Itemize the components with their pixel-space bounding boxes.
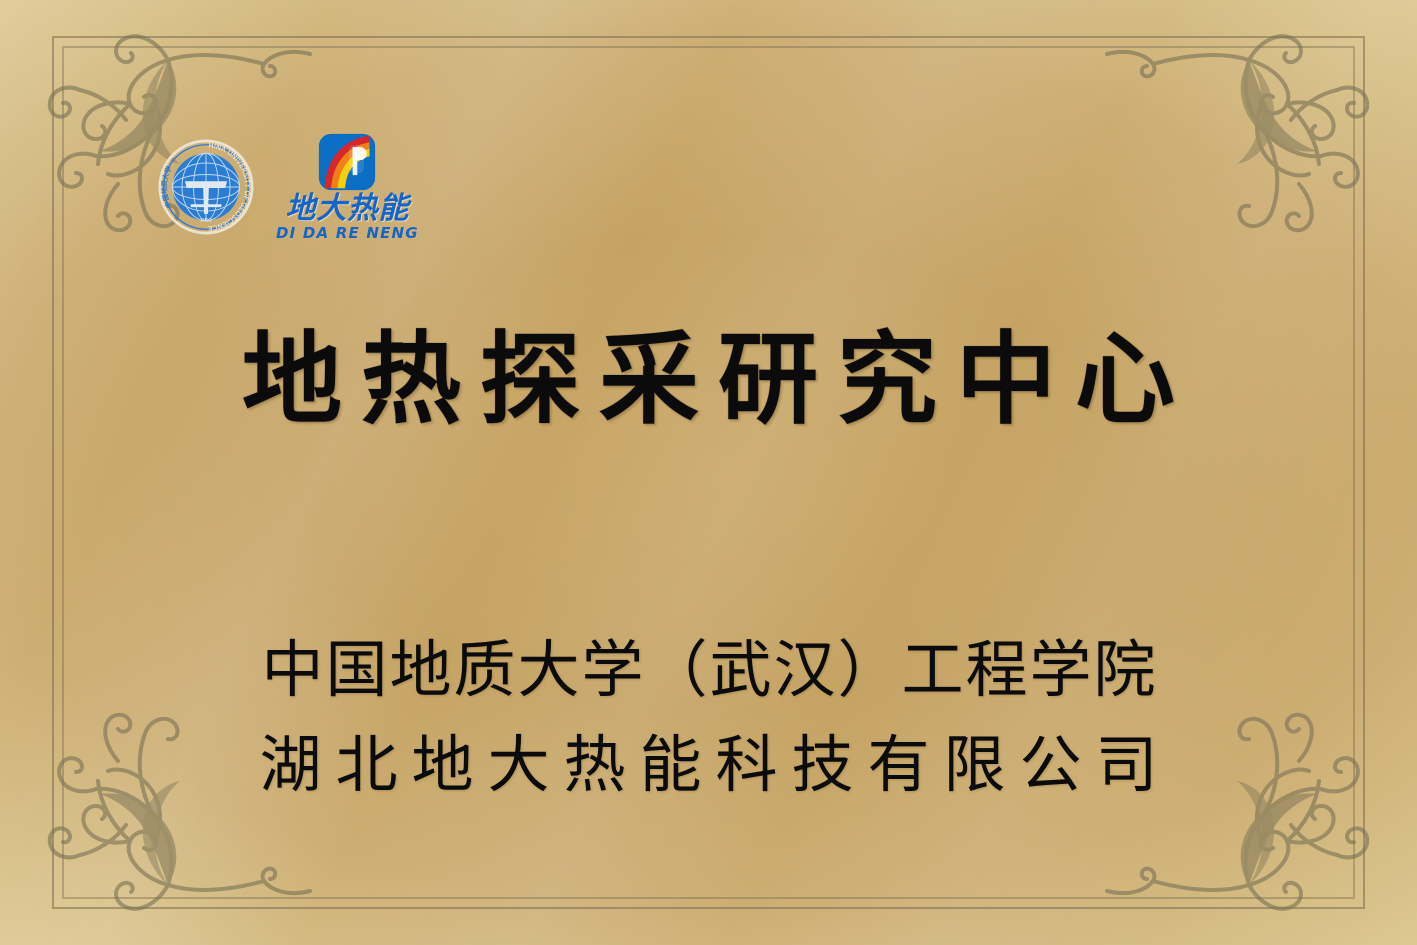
subtitle-line-1: 中国地质大学（武汉）工程学院	[0, 622, 1417, 717]
university-seal: CHINA UNIVERSITY OF GEOSCIENCES 中国地质大学 1…	[158, 139, 254, 235]
subtitle-line-2: 湖北地大热能科技有限公司	[0, 717, 1417, 812]
award-plaque: CHINA UNIVERSITY OF GEOSCIENCES 中国地质大学 1…	[0, 0, 1417, 945]
company-logo: 地大热能 DI DA RE NENG	[276, 132, 419, 243]
company-name-pinyin: DI DA RE NENG	[276, 224, 419, 243]
company-name-cn: 地大热能	[285, 194, 409, 224]
svg-text:1952: 1952	[200, 218, 212, 224]
didareneng-mark-icon	[317, 132, 377, 192]
logo-row: CHINA UNIVERSITY OF GEOSCIENCES 中国地质大学 1…	[158, 132, 419, 243]
plaque-title: 地热探采研究中心	[0, 330, 1417, 430]
corner-ornament-top-right	[1099, 8, 1399, 238]
plaque-subtitle: 中国地质大学（武汉）工程学院 湖北地大热能科技有限公司	[0, 622, 1417, 812]
